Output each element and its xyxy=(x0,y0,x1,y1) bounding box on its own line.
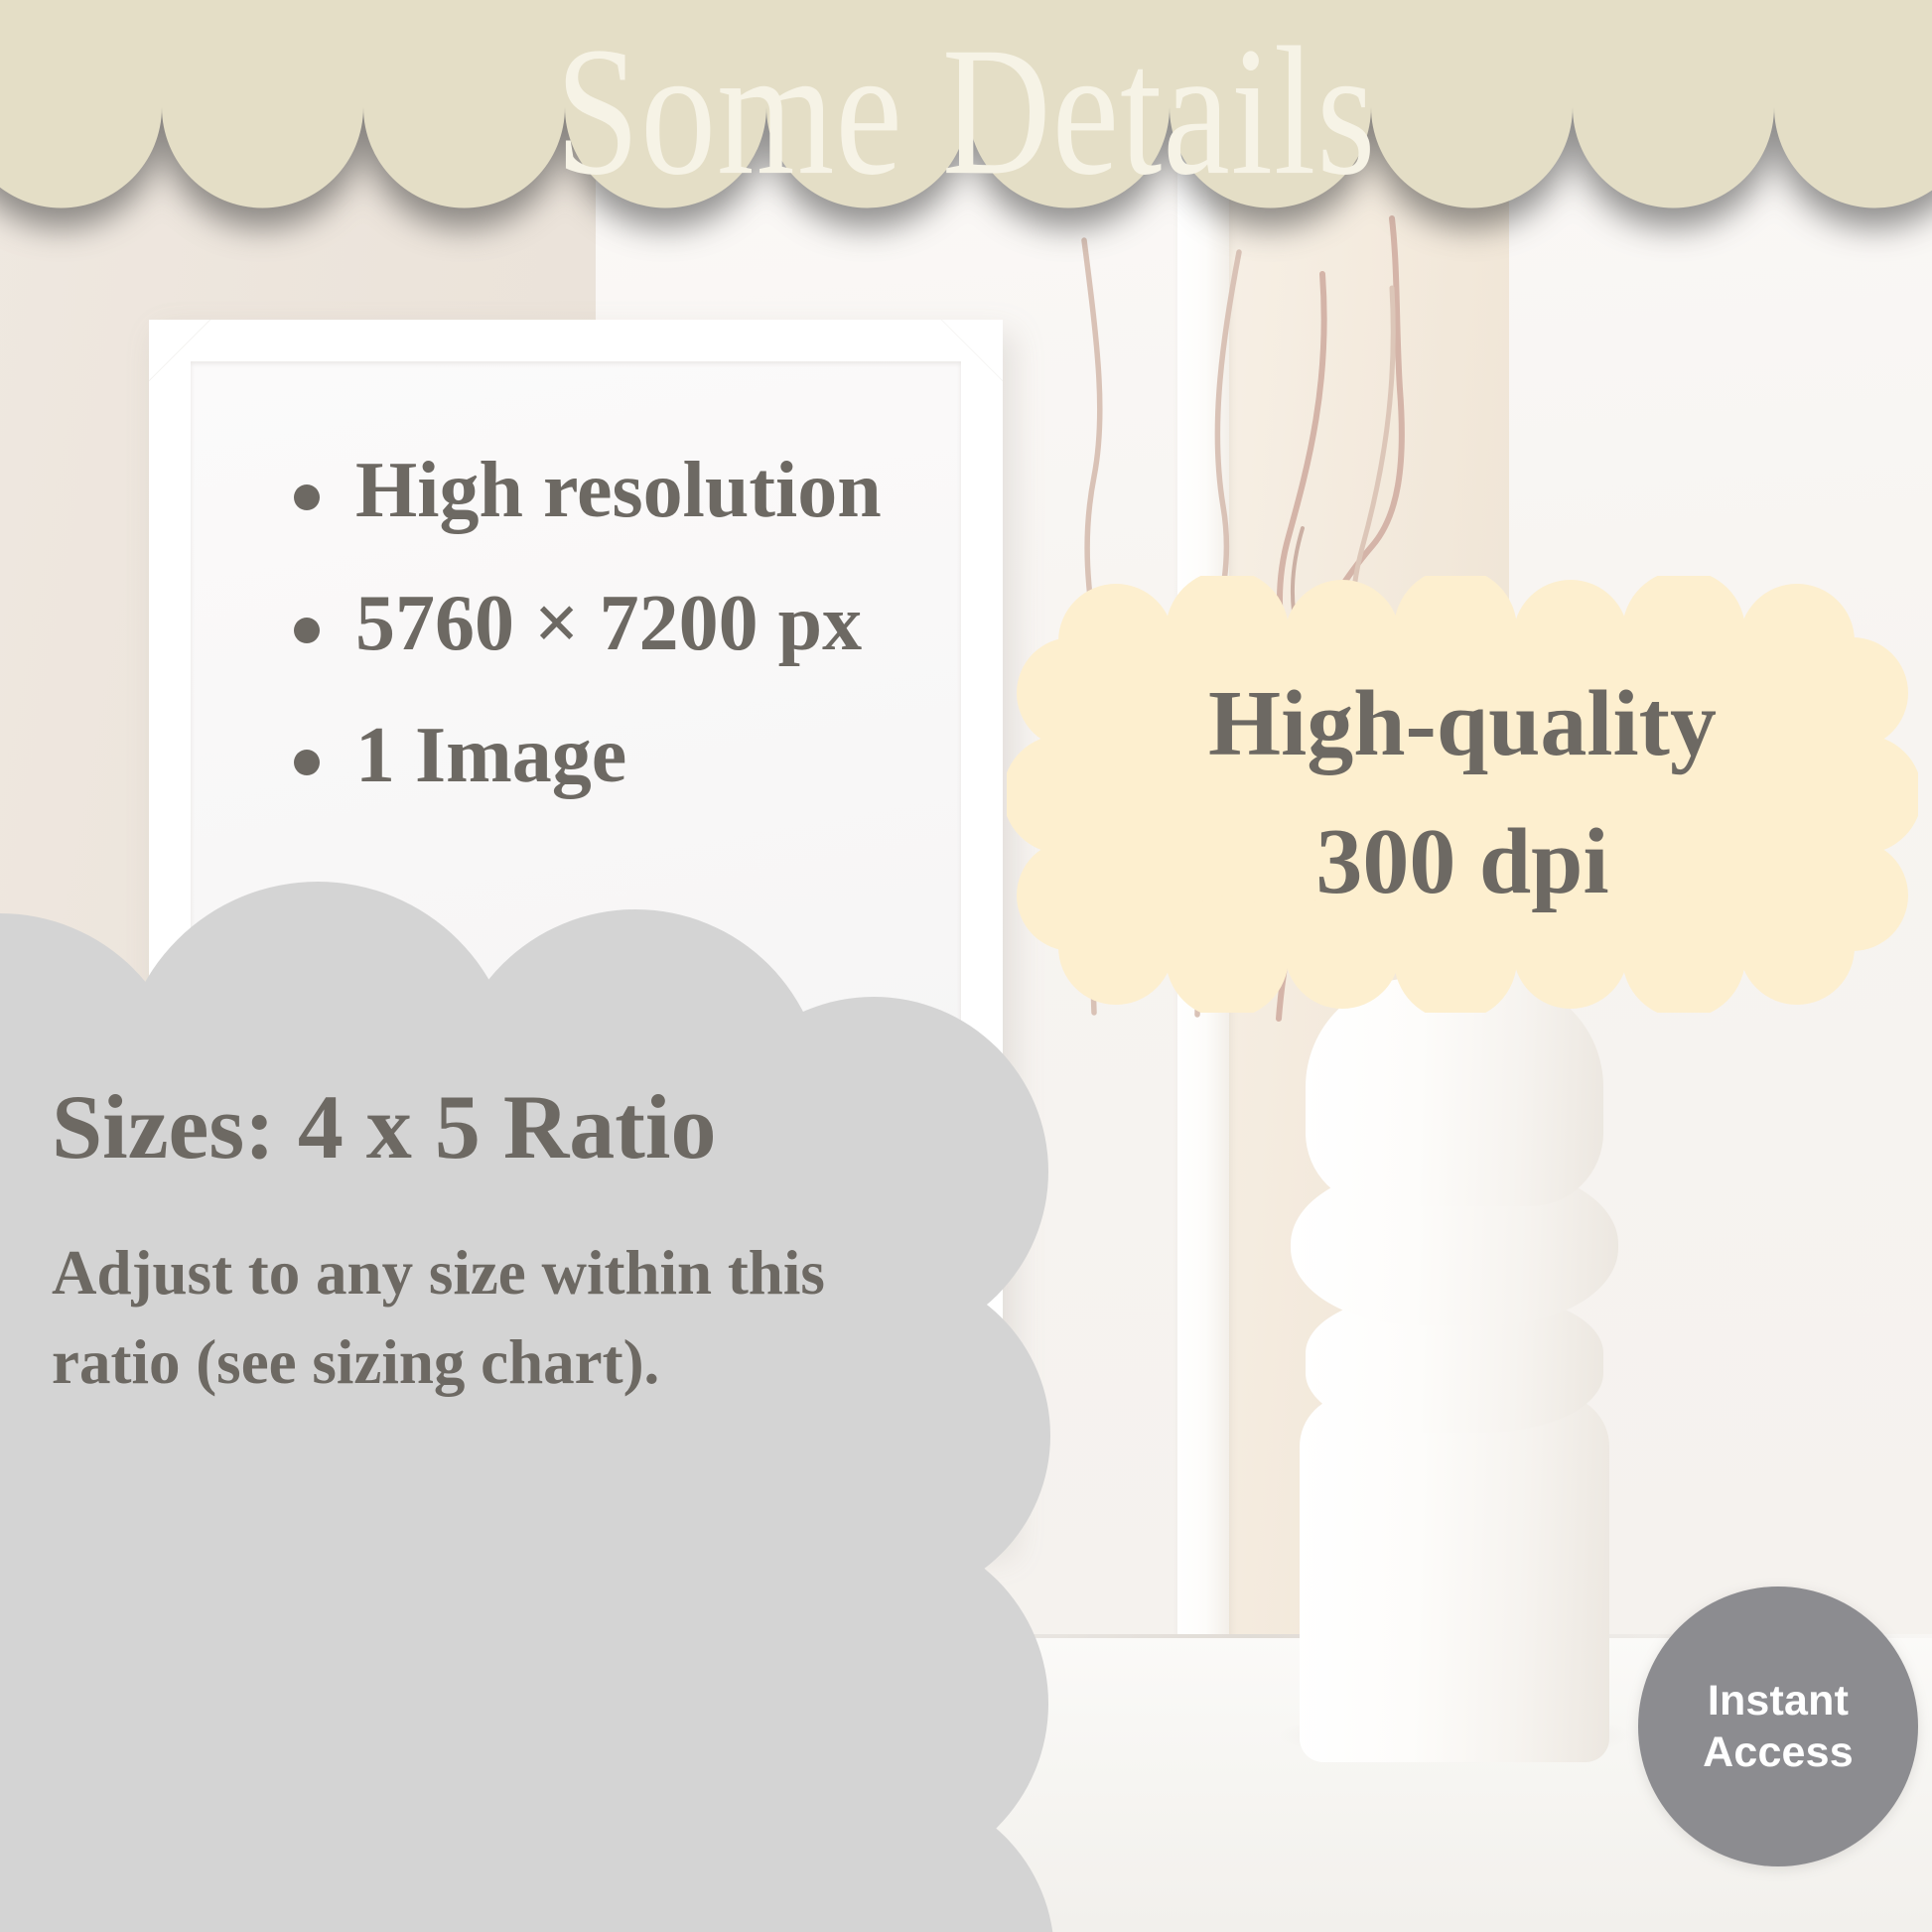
bullet-dot-icon xyxy=(294,750,320,775)
quality-badge-line2: 300 dpi xyxy=(1007,793,1918,931)
instant-access-badge[interactable]: Instant Access xyxy=(1638,1587,1918,1866)
ceramic-vase xyxy=(1291,978,1618,1762)
frame-miter-corner-top-right xyxy=(941,320,1003,381)
list-item-label: 1 Image xyxy=(355,712,626,801)
instant-access-line1: Instant xyxy=(1708,1675,1849,1726)
poster-canvas: Some Details High resolution 5760 × 7200… xyxy=(0,0,1932,1932)
page-title: Some Details xyxy=(0,18,1932,206)
quality-badge-line1: High-quality xyxy=(1007,655,1918,793)
list-item: 1 Image xyxy=(294,712,1048,801)
list-item-label: 5760 × 7200 px xyxy=(355,580,862,669)
sizes-body-text: Adjust to any size within this ratio (se… xyxy=(52,1229,965,1407)
instant-access-line2: Access xyxy=(1703,1726,1854,1778)
vase-base-segment xyxy=(1300,1395,1609,1762)
frame-miter-corner-top-left xyxy=(149,320,210,381)
details-list: High resolution 5760 × 7200 px 1 Image xyxy=(294,447,1048,845)
sizes-heading: Sizes: 4 x 5 Ratio xyxy=(52,1077,965,1177)
list-item-label: High resolution xyxy=(355,447,882,536)
list-item: 5760 × 7200 px xyxy=(294,580,1048,669)
bullet-dot-icon xyxy=(294,618,320,643)
sizes-panel: Sizes: 4 x 5 Ratio Adjust to any size wi… xyxy=(52,1077,965,1407)
list-item: High resolution xyxy=(294,447,1048,536)
quality-badge-text: High-quality 300 dpi xyxy=(1007,655,1918,931)
bullet-dot-icon xyxy=(294,484,320,510)
